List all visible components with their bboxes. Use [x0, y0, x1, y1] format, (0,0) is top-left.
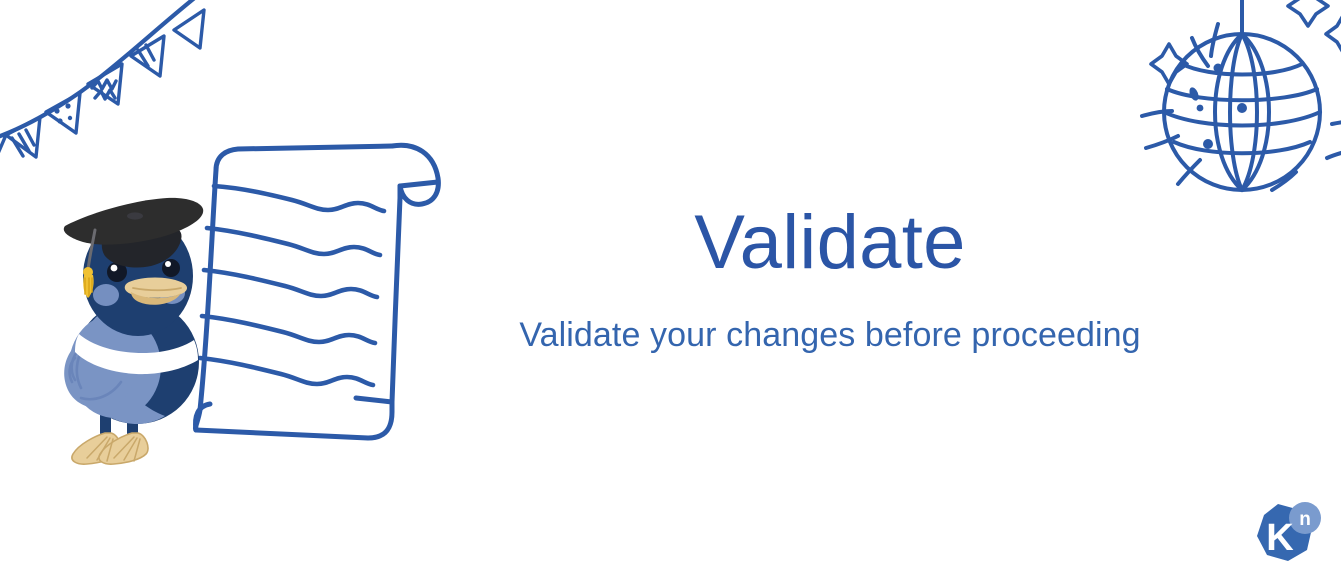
title-block: Validate Validate your changes before pr…: [470, 205, 1190, 354]
slide-canvas: Validate Validate your changes before pr…: [0, 0, 1341, 585]
party-bunting-decoration: [0, 0, 218, 165]
certificate-scroll-decoration: [180, 140, 465, 450]
logo-badge-letter: n: [1299, 509, 1311, 530]
page-subtitle: Validate your changes before proceeding: [470, 317, 1190, 354]
disco-ball-decoration: [1122, 0, 1341, 219]
logo-primary-letter: K: [1266, 517, 1294, 559]
page-title: Validate: [470, 205, 1190, 281]
kn-logo: K n: [1248, 500, 1324, 572]
graduate-bird-mascot: [55, 190, 240, 475]
